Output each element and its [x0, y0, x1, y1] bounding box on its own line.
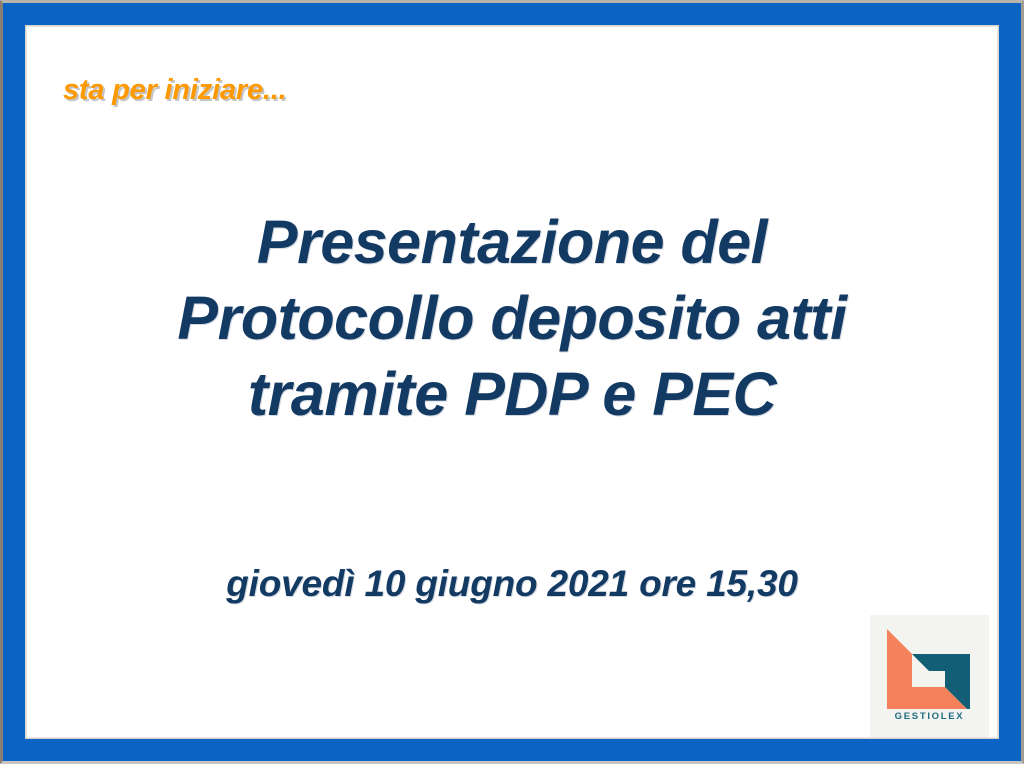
title-line-3: tramite PDP e PEC: [26, 356, 998, 432]
title-line-2: Protocollo deposito atti: [26, 280, 998, 356]
gestiolex-logo-mark: [885, 627, 975, 709]
slide-canvas: sta per iniziare... Presentazione del Pr…: [25, 25, 999, 739]
gestiolex-logo: GESTIOLEX: [870, 615, 989, 737]
title-line-1: Presentazione del: [26, 204, 998, 280]
slide-title: Presentazione del Protocollo deposito at…: [26, 204, 998, 432]
slide-kicker-text: sta per iniziare...: [63, 74, 286, 107]
gestiolex-wordmark: GESTIOLEX: [870, 711, 989, 722]
slide-subtitle-datetime: giovedì 10 giugno 2021 ore 15,30: [26, 563, 998, 605]
slide-outer-frame: sta per iniziare... Presentazione del Pr…: [0, 0, 1024, 764]
